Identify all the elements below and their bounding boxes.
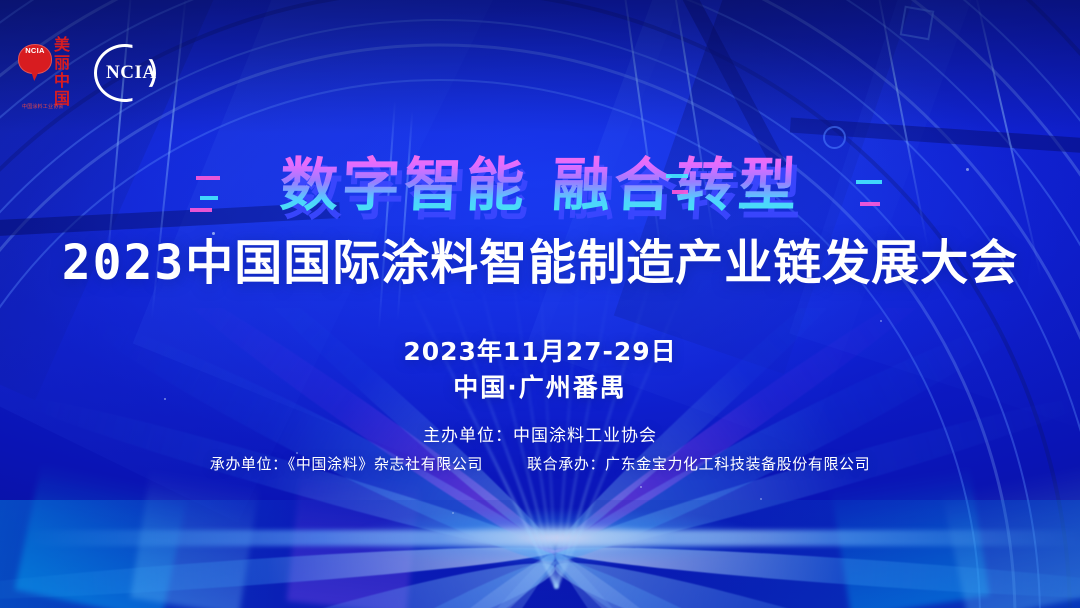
- logo-group: NCIA 美 丽 中 国 中国涂料工业协会 NCIA: [18, 36, 156, 110]
- hanzi-zhong: 中: [52, 72, 72, 89]
- main-title: 2023中国国际涂料智能制造产业链发展大会: [0, 234, 1080, 292]
- ncia-badge-label: NCIA: [18, 46, 52, 55]
- hanzi-mei: 美: [52, 36, 72, 53]
- co-organizer-label: 联合承办：广东金宝力化工科技装备股份有限公司: [527, 453, 870, 475]
- organizer-label: 承办单位：《中国涂料》杂志社有限公司: [210, 453, 483, 475]
- tagline-block: 数字智能 融合转型 数字智能 融合转型: [0, 150, 1080, 228]
- host-organization: 主办单位：中国涂料工业协会: [0, 424, 1080, 448]
- main-title-year: 2023: [62, 235, 186, 291]
- beautiful-china-hanzi: 美 丽 中 国: [52, 36, 72, 107]
- main-title-text: 中国国际涂料智能制造产业链发展大会: [185, 235, 1018, 291]
- hanzi-li: 丽: [52, 54, 72, 71]
- organizer-row: 承办单位：《中国涂料》杂志社有限公司 联合承办：广东金宝力化工科技装备股份有限公…: [0, 453, 1080, 475]
- conference-poster: NCIA 美 丽 中 国 中国涂料工业协会 NCIA 数字智能 融合转型 数字智…: [0, 0, 1080, 608]
- beautiful-china-subtitle: 中国涂料工业协会: [22, 104, 70, 110]
- ncia-logo: NCIA: [94, 44, 156, 102]
- beautiful-china-logo: NCIA 美 丽 中 国 中国涂料工业协会: [18, 36, 72, 110]
- tagline-text: 数字智能 融合转型: [278, 150, 802, 220]
- event-date: 2023年11月27-29日: [0, 336, 1080, 368]
- event-place: 中国·广州番禺: [0, 372, 1080, 404]
- ncia-logo-label: NCIA: [106, 62, 157, 84]
